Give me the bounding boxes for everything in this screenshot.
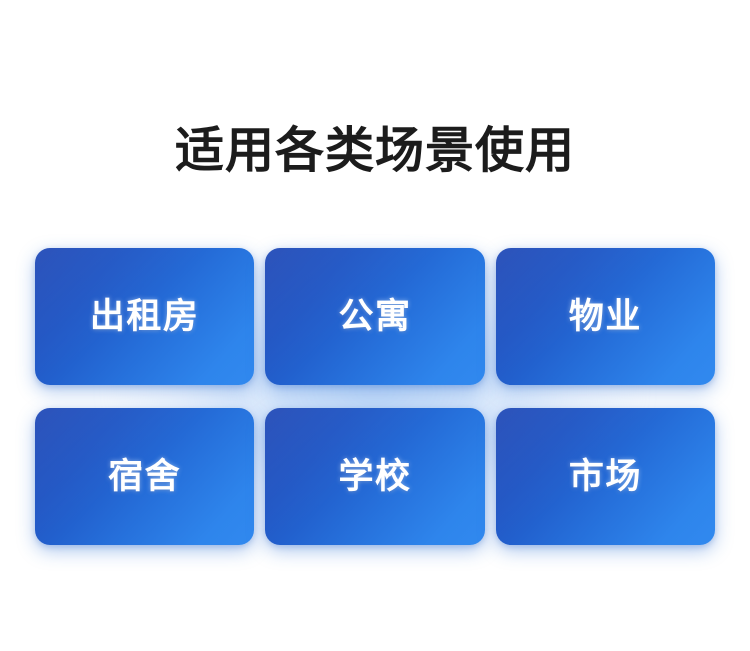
scene-card-market[interactable]: 市场: [496, 408, 715, 545]
scene-card-rental-house[interactable]: 出租房: [35, 248, 254, 385]
scene-card-label: 物业: [569, 297, 642, 337]
scene-card-label: 公寓: [338, 297, 411, 337]
scene-card-dormitory[interactable]: 宿舍: [35, 408, 254, 545]
scene-card-apartment[interactable]: 公寓: [265, 248, 484, 385]
scene-card-grid: 出租房 公寓 物业 宿舍 学校 市场: [35, 248, 715, 545]
page-title: 适用各类场景使用: [175, 121, 575, 181]
scene-card-label: 宿舍: [108, 457, 181, 497]
scene-card-label: 出租房: [90, 297, 200, 337]
page-title-container: 适用各类场景使用: [0, 88, 750, 214]
scene-card-label: 市场: [569, 457, 642, 497]
promo-page: 适用各类场景使用 出租房 公寓 物业 宿舍 学校 市场: [0, 0, 750, 651]
scene-card-label: 学校: [338, 457, 411, 497]
scene-card-school[interactable]: 学校: [265, 408, 484, 545]
scene-card-property-management[interactable]: 物业: [496, 248, 715, 385]
